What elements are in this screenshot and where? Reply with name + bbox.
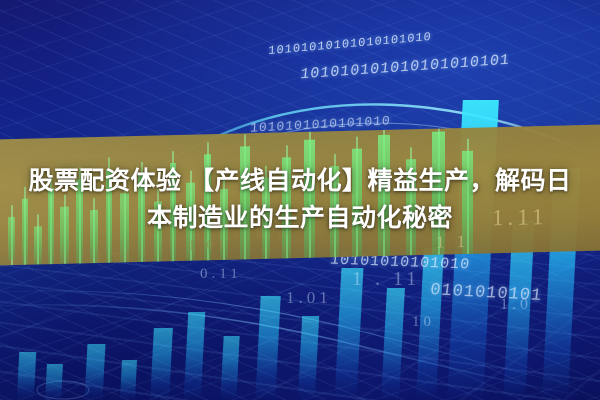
cover-image: 10101010101010101010 1010101010101010101… xyxy=(0,0,600,400)
green-candlestick-chart xyxy=(0,125,600,266)
candle-body xyxy=(406,159,416,255)
candle-body xyxy=(262,178,270,259)
gold-band: 0.11 1.11 1.01 1 1 1.01 xyxy=(0,125,600,266)
candle-body xyxy=(352,148,362,256)
candle-body xyxy=(186,183,195,261)
candle-body xyxy=(462,151,473,254)
chart-bar xyxy=(45,364,63,400)
candle-body xyxy=(154,201,162,261)
chart-bar xyxy=(120,360,137,400)
chart-bar xyxy=(416,248,444,400)
chart-bar xyxy=(381,288,405,400)
candle-body xyxy=(204,154,211,260)
candle-body xyxy=(8,217,15,260)
chart-bar xyxy=(17,352,37,400)
candle-body xyxy=(170,163,176,261)
candle-body xyxy=(22,199,28,265)
candle-body xyxy=(120,193,129,262)
candle-body xyxy=(90,210,98,263)
chart-bar xyxy=(335,268,364,400)
candle-body xyxy=(378,135,390,256)
candle-body xyxy=(240,146,250,259)
chart-bar xyxy=(150,328,173,400)
candle-body xyxy=(282,157,291,258)
chart-bar xyxy=(220,336,239,400)
chart-bar xyxy=(184,312,206,400)
candle-body xyxy=(76,179,83,263)
chart-bar xyxy=(255,296,280,400)
chart-bar xyxy=(85,344,106,400)
candle-body xyxy=(60,207,69,264)
candle-body xyxy=(304,140,315,258)
candle-body xyxy=(34,226,42,264)
candle-body xyxy=(106,170,112,263)
candle-body xyxy=(48,188,54,264)
candle-body xyxy=(432,131,445,254)
candle-body xyxy=(220,189,228,260)
candle-body xyxy=(138,174,145,262)
chart-bar xyxy=(298,316,319,400)
candle-body xyxy=(330,166,339,257)
